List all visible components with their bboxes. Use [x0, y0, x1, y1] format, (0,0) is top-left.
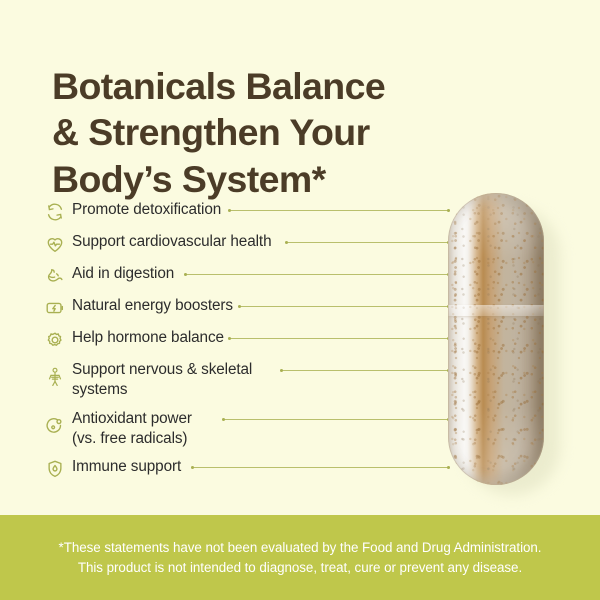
list-item: Antioxidant power (vs. free radicals): [44, 409, 434, 450]
capsule-joint-band: [448, 305, 544, 316]
list-item: Support cardiovascular health: [44, 232, 434, 255]
refresh-cycle-icon: [44, 201, 66, 223]
list-item: Support nervous & skeletal systems: [44, 360, 434, 401]
list-item-label: Promote detoxification: [72, 201, 221, 218]
list-item-label: Support cardiovascular health: [72, 233, 271, 250]
list-item-label: Natural energy boosters: [72, 297, 233, 314]
connector-line: [223, 419, 449, 420]
benefits-list: Promote detoxification Support cardiovas…: [44, 200, 434, 489]
connector-line: [286, 242, 449, 243]
capsule-powder-grain: [448, 193, 544, 485]
shield-drop-icon: [44, 458, 66, 480]
list-item: Aid in digestion: [44, 264, 434, 287]
hormone-molecule-icon: [44, 329, 66, 351]
connector-line: [239, 306, 449, 307]
list-item: Natural energy boosters: [44, 296, 434, 319]
list-item-label: Support nervous & skeletal systems: [72, 361, 252, 398]
disclaimer-text: *These statements have not been evaluate…: [50, 538, 550, 576]
antioxidant-cell-icon: [44, 415, 66, 437]
battery-energy-icon: [44, 297, 66, 319]
product-benefits-infographic: Botanicals Balance & Strengthen Your Bod…: [0, 0, 600, 600]
connector-line: [229, 210, 449, 211]
product-capsule-image: [448, 193, 546, 488]
connector-line: [185, 274, 449, 275]
list-item: Promote detoxification: [44, 200, 434, 223]
stomach-digestion-icon: [44, 265, 66, 287]
heart-pulse-icon: [44, 233, 66, 255]
skeleton-body-icon: [44, 366, 66, 388]
connector-line: [281, 370, 449, 371]
list-item-label: Immune support: [72, 458, 181, 475]
list-item: Immune support: [44, 457, 434, 480]
page-title: Botanicals Balance & Strengthen Your Bod…: [52, 63, 512, 202]
disclaimer-band: *These statements have not been evaluate…: [0, 515, 600, 600]
connector-line: [229, 338, 449, 339]
connector-line: [192, 467, 449, 468]
list-item-label: Help hormone balance: [72, 329, 224, 346]
capsule: [448, 193, 544, 485]
list-item-label: Antioxidant power (vs. free radicals): [72, 410, 192, 447]
list-item-label: Aid in digestion: [72, 265, 174, 282]
list-item: Help hormone balance: [44, 328, 434, 351]
